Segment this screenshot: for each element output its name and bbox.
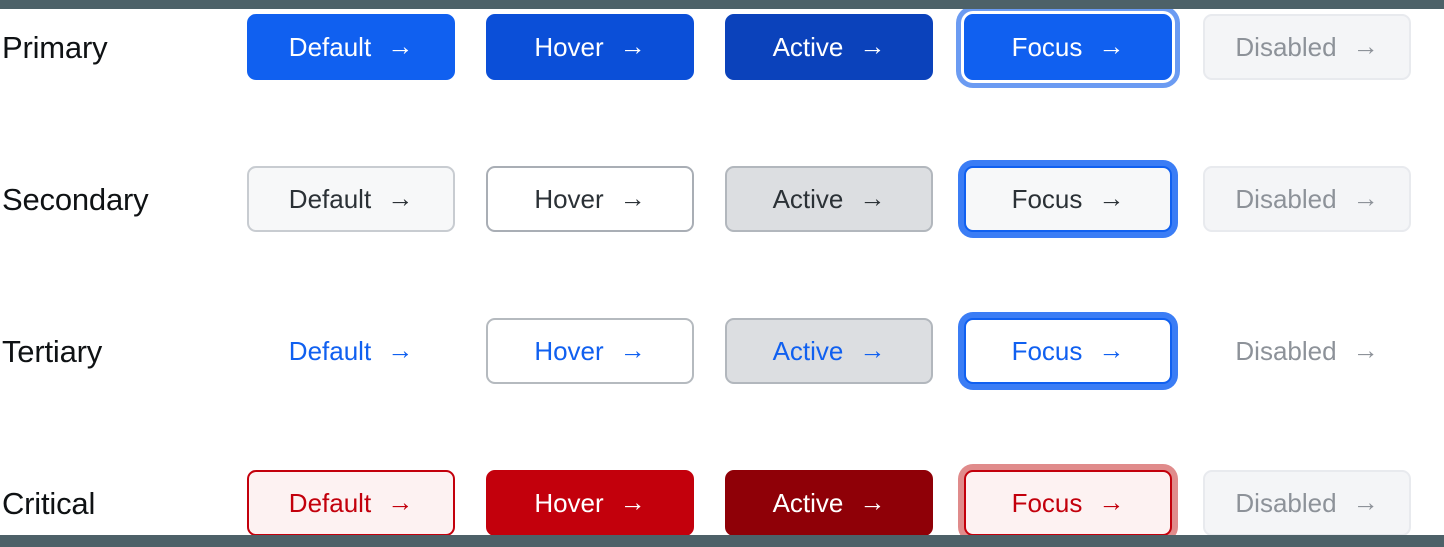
button-states-matrix: Primary Default → Hover → Active → Focus… (0, 0, 1444, 547)
button-label: Default (289, 490, 371, 516)
cell-secondary-active: Active → (725, 166, 964, 232)
button-tertiary-focus[interactable]: Focus → (964, 318, 1172, 384)
button-secondary-hover[interactable]: Hover → (486, 166, 694, 232)
cell-secondary-hover: Hover → (486, 166, 725, 232)
arrow-right-icon: → (387, 489, 413, 515)
button-label: Hover (534, 338, 603, 364)
button-label: Hover (534, 186, 603, 212)
button-critical-hover[interactable]: Hover → (486, 470, 694, 536)
button-tertiary-active[interactable]: Active → (725, 318, 933, 384)
arrow-right-icon: → (1353, 185, 1379, 211)
cell-secondary-default: Default → (247, 166, 486, 232)
cell-primary-hover: Hover → (486, 14, 725, 80)
button-tertiary-disabled: Disabled → (1203, 318, 1411, 384)
arrow-right-icon: → (620, 185, 646, 211)
cell-secondary-focus: Focus → (964, 166, 1203, 232)
button-primary-default[interactable]: Default → (247, 14, 455, 80)
button-critical-disabled: Disabled → (1203, 470, 1411, 536)
cell-critical-default: Default → (247, 470, 486, 536)
button-label: Disabled (1235, 186, 1336, 212)
variant-row-tertiary: Tertiary Default → Hover → Active → Focu… (0, 318, 1444, 384)
arrow-right-icon: → (387, 185, 413, 211)
button-critical-focus[interactable]: Focus → (964, 470, 1172, 536)
arrow-right-icon: → (387, 337, 413, 363)
arrow-right-icon: → (1353, 337, 1379, 363)
button-label: Focus (1012, 34, 1083, 60)
cell-tertiary-hover: Hover → (486, 318, 725, 384)
button-secondary-default[interactable]: Default → (247, 166, 455, 232)
cell-critical-focus: Focus → (964, 470, 1203, 536)
cell-primary-focus: Focus → (964, 14, 1203, 80)
arrow-right-icon: → (859, 33, 885, 59)
button-label: Active (773, 338, 844, 364)
button-primary-focus[interactable]: Focus → (964, 14, 1172, 80)
cell-primary-disabled: Disabled → (1203, 14, 1442, 80)
button-tertiary-hover[interactable]: Hover → (486, 318, 694, 384)
arrow-right-icon: → (1098, 185, 1124, 211)
button-label: Hover (534, 490, 603, 516)
button-label: Active (773, 34, 844, 60)
button-label: Default (289, 34, 371, 60)
button-label: Disabled (1235, 34, 1336, 60)
button-primary-hover[interactable]: Hover → (486, 14, 694, 80)
arrow-right-icon: → (620, 489, 646, 515)
button-primary-disabled: Disabled → (1203, 14, 1411, 80)
button-critical-active[interactable]: Active → (725, 470, 933, 536)
variant-row-secondary: Secondary Default → Hover → Active → Foc… (0, 166, 1444, 232)
arrow-right-icon: → (620, 33, 646, 59)
cell-tertiary-active: Active → (725, 318, 964, 384)
arrow-right-icon: → (1098, 337, 1124, 363)
button-label: Disabled (1235, 338, 1336, 364)
variant-row-primary: Primary Default → Hover → Active → Focus… (0, 14, 1444, 80)
row-label-tertiary: Tertiary (0, 336, 247, 367)
top-accent-bar (0, 0, 1444, 9)
button-label: Hover (534, 34, 603, 60)
button-secondary-disabled: Disabled → (1203, 166, 1411, 232)
arrow-right-icon: → (1098, 33, 1124, 59)
cell-critical-active: Active → (725, 470, 964, 536)
arrow-right-icon: → (620, 337, 646, 363)
button-label: Active (773, 186, 844, 212)
button-label: Focus (1012, 338, 1083, 364)
cell-tertiary-focus: Focus → (964, 318, 1203, 384)
cell-primary-active: Active → (725, 14, 964, 80)
row-label-critical: Critical (0, 488, 247, 519)
button-critical-default[interactable]: Default → (247, 470, 455, 536)
button-label: Focus (1012, 186, 1083, 212)
button-primary-active[interactable]: Active → (725, 14, 933, 80)
row-label-primary: Primary (0, 32, 247, 63)
arrow-right-icon: → (859, 185, 885, 211)
arrow-right-icon: → (1098, 489, 1124, 515)
bottom-accent-bar (0, 535, 1444, 547)
arrow-right-icon: → (859, 337, 885, 363)
button-label: Active (773, 490, 844, 516)
arrow-right-icon: → (859, 489, 885, 515)
button-label: Default (289, 186, 371, 212)
button-tertiary-default[interactable]: Default → (247, 318, 455, 384)
cell-critical-hover: Hover → (486, 470, 725, 536)
cell-tertiary-disabled: Disabled → (1203, 318, 1442, 384)
cell-critical-disabled: Disabled → (1203, 470, 1442, 536)
cell-tertiary-default: Default → (247, 318, 486, 384)
variant-row-critical: Critical Default → Hover → Active → Focu… (0, 470, 1444, 536)
cell-primary-default: Default → (247, 14, 486, 80)
arrow-right-icon: → (1353, 33, 1379, 59)
button-label: Focus (1012, 490, 1083, 516)
button-label: Disabled (1235, 490, 1336, 516)
cell-secondary-disabled: Disabled → (1203, 166, 1442, 232)
arrow-right-icon: → (1353, 489, 1379, 515)
button-secondary-active[interactable]: Active → (725, 166, 933, 232)
button-secondary-focus[interactable]: Focus → (964, 166, 1172, 232)
button-label: Default (289, 338, 371, 364)
row-label-secondary: Secondary (0, 184, 247, 215)
arrow-right-icon: → (387, 33, 413, 59)
